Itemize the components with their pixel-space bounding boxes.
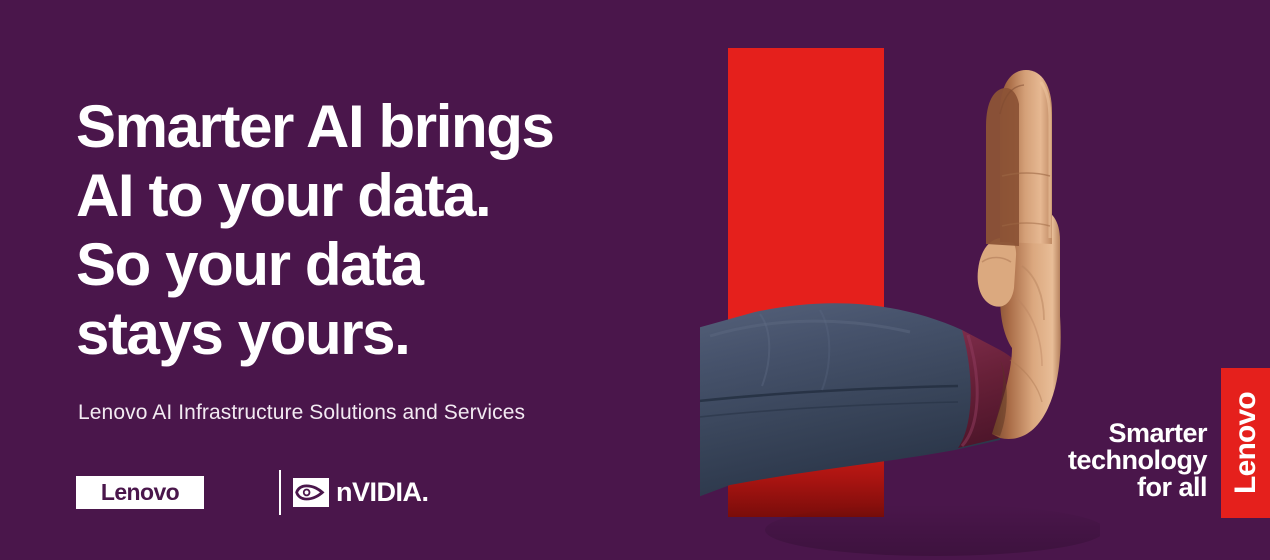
lenovo-ad-banner: Smarter AI brings AI to your data. So yo… <box>0 0 1270 560</box>
brand-lockup: Lenovo nVIDIA. <box>76 470 429 514</box>
lockup-divider <box>279 470 281 515</box>
nvidia-eye-icon <box>293 478 329 507</box>
nvidia-wordmark: nVIDIA. <box>336 479 429 506</box>
lenovo-badge-label: Lenovo <box>1231 392 1261 494</box>
lenovo-logo: Lenovo <box>76 476 204 509</box>
page-title: Smarter AI brings AI to your data. So yo… <box>76 92 696 368</box>
raised-hand-photo <box>700 30 1100 560</box>
nvidia-logo: nVIDIA. <box>293 478 429 507</box>
subheading: Lenovo AI Infrastructure Solutions and S… <box>78 401 525 425</box>
lenovo-badge: Lenovo <box>1221 368 1270 518</box>
tagline: Smarter technology for all <box>1068 420 1207 501</box>
lenovo-logo-label: Lenovo <box>101 481 179 504</box>
